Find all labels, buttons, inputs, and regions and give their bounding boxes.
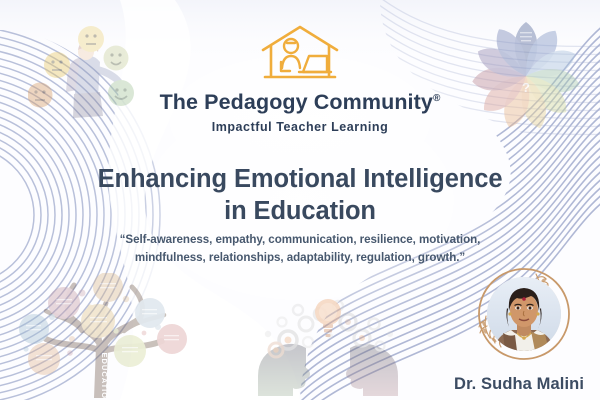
title-block: Enhancing Emotional Intelligence in Educ… [0, 163, 600, 228]
speaker-photo [487, 277, 561, 351]
speaker-name: Dr. Sudha Malini [454, 375, 584, 394]
event-title-line1: Enhancing Emotional Intelligence [98, 165, 503, 193]
event-title: Enhancing Emotional Intelligence in Educ… [0, 163, 600, 228]
two-heads-with-gears-and-lightbulb [248, 288, 408, 396]
house-with-person-at-laptop-icon [257, 22, 343, 84]
brand-name: The Pedagogy Community® [160, 90, 441, 115]
education-benefits-tree: EDUCATION [12, 273, 202, 398]
svg-text:EDUCATION: EDUCATION [100, 352, 109, 398]
brand-logo-block: The Pedagogy Community® Impactful Teache… [0, 22, 600, 134]
brand-tagline: Impactful Teacher Learning [212, 120, 389, 134]
brand-name-text: The Pedagogy Community [160, 90, 433, 114]
speaker-portrait [474, 264, 574, 364]
event-title-line2: in Education [0, 195, 600, 227]
topics-quote: “Self-awareness, empathy, communication,… [0, 231, 600, 266]
quote-line-1: “Self-awareness, empathy, communication,… [0, 231, 600, 249]
registered-trademark-mark: ® [433, 93, 440, 104]
webinar-promo-poster: ? EDUCATION [0, 0, 600, 400]
